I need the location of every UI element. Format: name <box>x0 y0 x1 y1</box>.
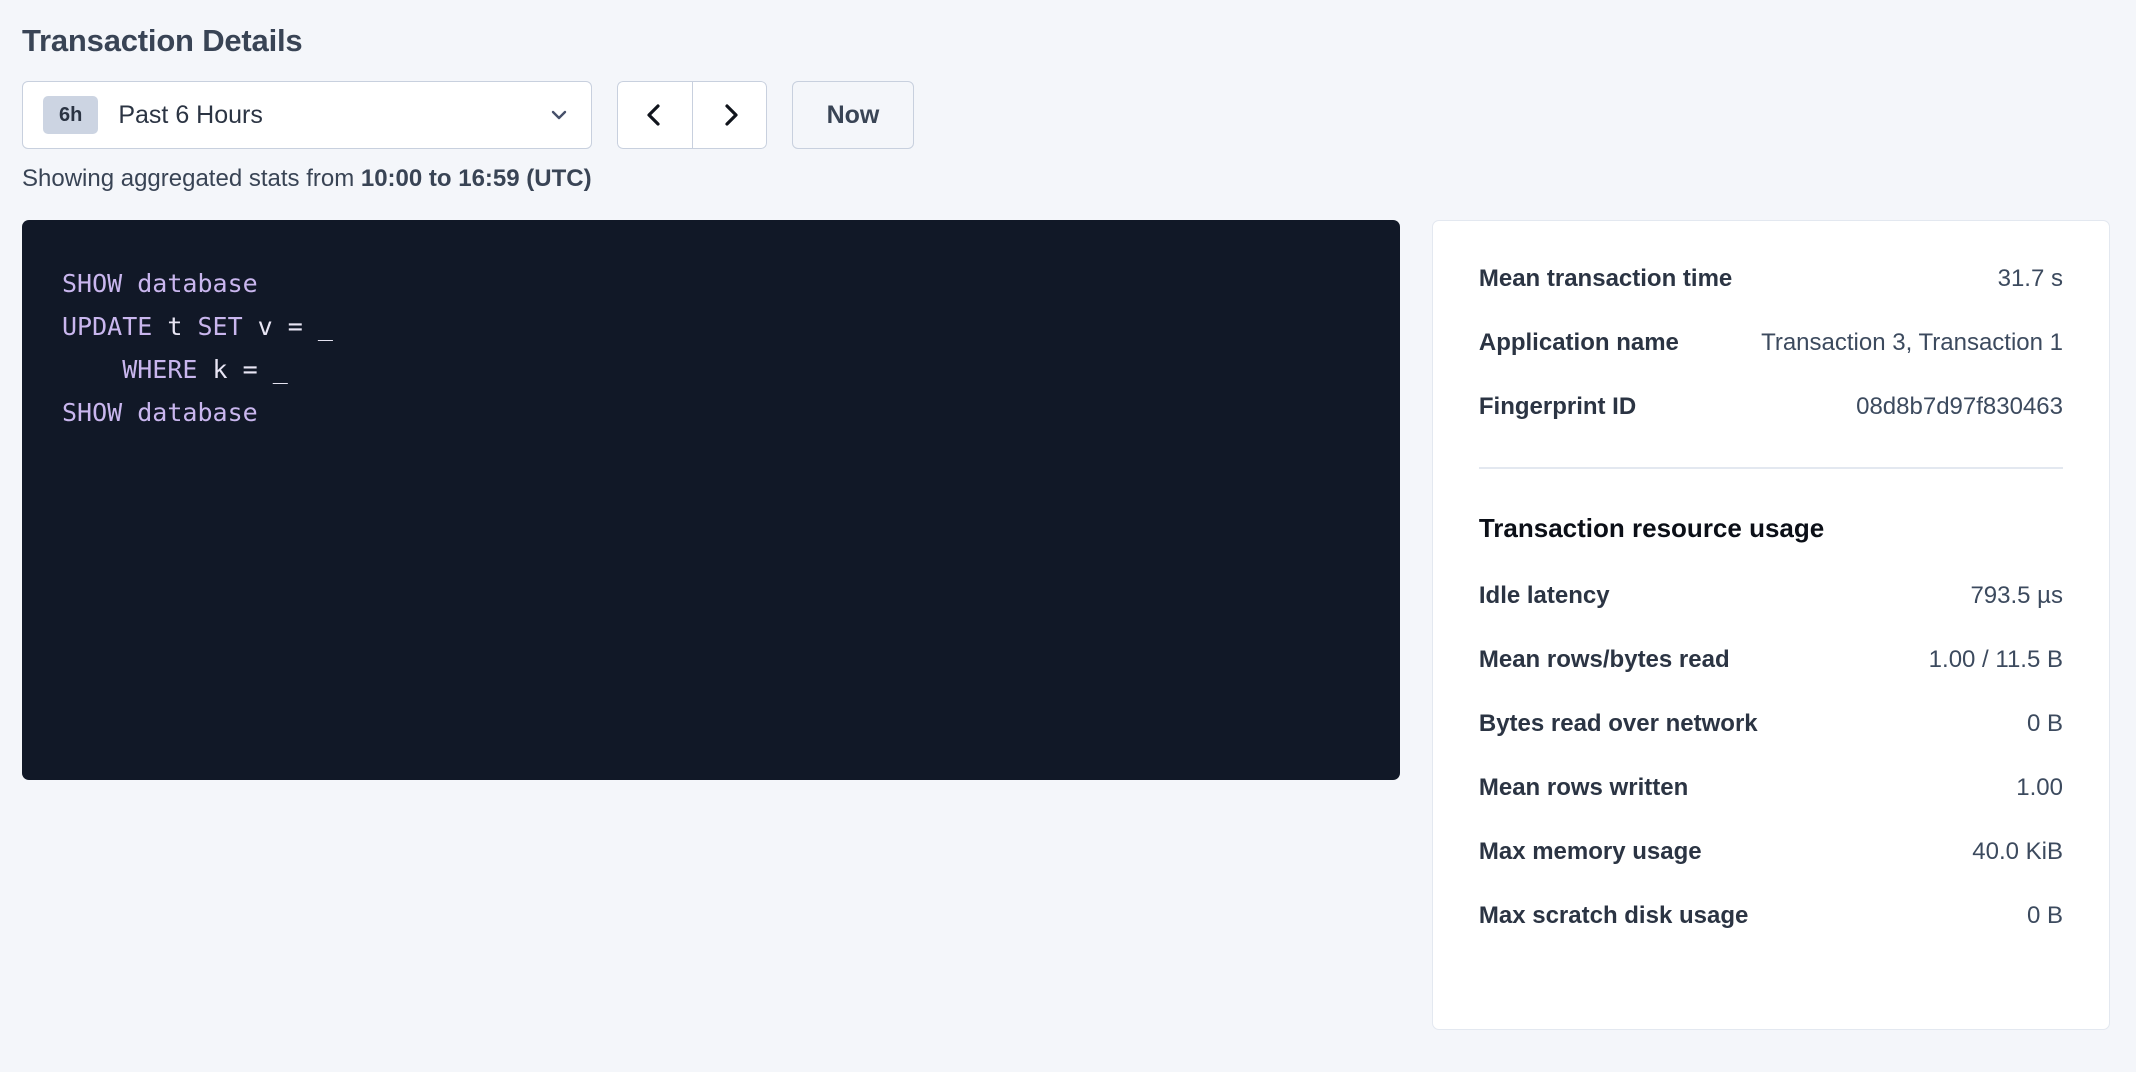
stat-label: Bytes read over network <box>1479 710 1758 738</box>
stat-value: 1.00 <box>2016 774 2063 802</box>
resource-usage-title: Transaction resource usage <box>1479 513 2063 544</box>
sql-token-keyword: WHERE <box>62 355 197 384</box>
sql-statement-block: SHOW database UPDATE t SET v = _ WHERE k… <box>22 220 1400 780</box>
time-nav-group <box>617 81 767 149</box>
resource-stats-list: Idle latency793.5 µsMean rows/bytes read… <box>1479 582 2063 930</box>
stat-label: Mean transaction time <box>1479 265 1732 293</box>
stat-value: Transaction 3, Transaction 1 <box>1761 329 2063 357</box>
caption-range: 10:00 to 16:59 (UTC) <box>361 165 592 192</box>
stat-label: Max scratch disk usage <box>1479 902 1748 930</box>
stat-value: 0 B <box>2027 902 2063 930</box>
chevron-right-icon <box>717 102 743 128</box>
stat-label: Max memory usage <box>1479 838 1702 866</box>
page-title: Transaction Details <box>22 22 2110 59</box>
stat-value: 1.00 / 11.5 B <box>1929 646 2063 674</box>
sql-token-keyword: SHOW database <box>62 398 258 427</box>
next-period-button[interactable] <box>692 81 767 149</box>
stat-value: 08d8b7d97f830463 <box>1856 393 2063 421</box>
time-range-select[interactable]: 6h Past 6 Hours <box>22 81 592 149</box>
stat-row: Fingerprint ID08d8b7d97f830463 <box>1479 393 2063 421</box>
stat-value: 793.5 µs <box>1970 582 2063 610</box>
stat-row: Mean transaction time31.7 s <box>1479 265 2063 293</box>
stat-row: Application nameTransaction 3, Transacti… <box>1479 329 2063 357</box>
previous-period-button[interactable] <box>617 81 692 149</box>
stat-row: Max scratch disk usage0 B <box>1479 902 2063 930</box>
stat-label: Idle latency <box>1479 582 1610 610</box>
sql-token-keyword: UPDATE <box>62 312 152 341</box>
chevron-left-icon <box>642 102 668 128</box>
transaction-stats-card: Mean transaction time31.7 sApplication n… <box>1432 220 2110 1030</box>
time-range-badge: 6h <box>43 96 98 134</box>
sql-token-ident: k = _ <box>197 355 287 384</box>
sql-token-ident: v = _ <box>243 312 333 341</box>
stat-row: Mean rows written1.00 <box>1479 774 2063 802</box>
sql-statement-text: SHOW database UPDATE t SET v = _ WHERE k… <box>62 262 1400 434</box>
stat-row: Bytes read over network0 B <box>1479 710 2063 738</box>
stats-divider <box>1479 467 2063 469</box>
summary-stats-list: Mean transaction time31.7 sApplication n… <box>1479 265 2063 421</box>
stat-row: Idle latency793.5 µs <box>1479 582 2063 610</box>
details-body: SHOW database UPDATE t SET v = _ WHERE k… <box>22 220 2110 1030</box>
time-range-label: Past 6 Hours <box>118 103 549 128</box>
stat-label: Fingerprint ID <box>1479 393 1636 421</box>
stat-value: 31.7 s <box>1998 265 2063 293</box>
stat-label: Mean rows/bytes read <box>1479 646 1730 674</box>
sql-token-ident: t <box>152 312 197 341</box>
sql-token-keyword: SHOW database <box>62 269 258 298</box>
stat-row: Mean rows/bytes read1.00 / 11.5 B <box>1479 646 2063 674</box>
stat-value: 40.0 KiB <box>1972 838 2063 866</box>
time-range-toolbar: 6h Past 6 Hours <box>22 81 2110 149</box>
stat-row: Max memory usage40.0 KiB <box>1479 838 2063 866</box>
stat-value: 0 B <box>2027 710 2063 738</box>
stat-label: Application name <box>1479 329 1679 357</box>
caption-prefix: Showing aggregated stats from <box>22 165 361 192</box>
now-button[interactable]: Now <box>792 81 914 149</box>
aggregation-range-caption: Showing aggregated stats from 10:00 to 1… <box>22 165 2110 194</box>
chevron-down-icon <box>549 105 569 125</box>
sql-token-keyword: SET <box>197 312 242 341</box>
transaction-details-page: Transaction Details 6h Past 6 Hours <box>0 0 2136 1072</box>
stat-label: Mean rows written <box>1479 774 1688 802</box>
